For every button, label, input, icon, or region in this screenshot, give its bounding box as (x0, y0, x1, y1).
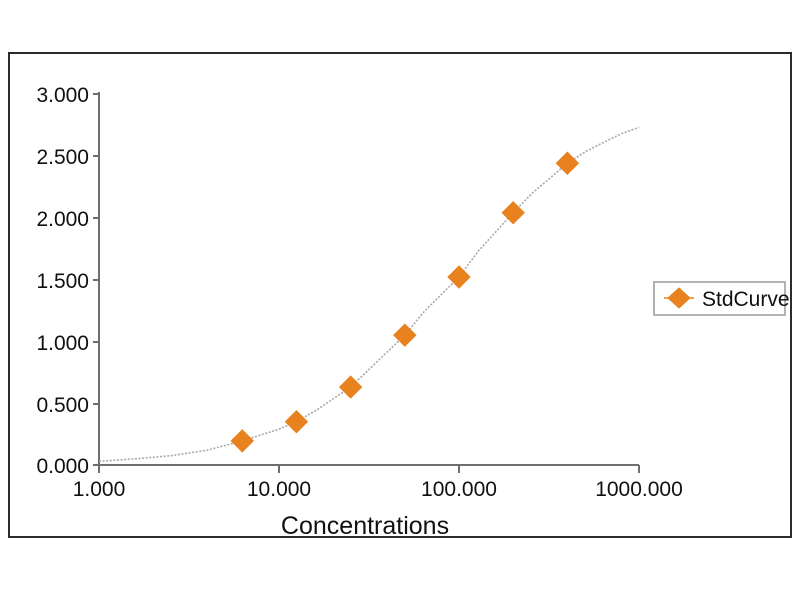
legend-entry-label: StdCurve (702, 288, 790, 311)
y-tick-label-1000: 1.000 (36, 332, 89, 355)
x-tick-label-1000: 1000.000 (595, 478, 683, 501)
data-point-marker (394, 324, 416, 346)
y-tick-label-3000: 3.000 (36, 84, 89, 107)
std-curve-data-points (231, 152, 578, 452)
data-point-marker (285, 411, 307, 433)
x-axis: 1.000 10.000 100.000 1000.000 Concentrat… (73, 465, 683, 536)
x-axis-title: Concentrations (281, 512, 449, 536)
y-tick-label-0000: 0.000 (36, 455, 89, 478)
chart-frame: 3.000 2.500 2.000 1.500 1.000 0.500 0.00… (8, 52, 792, 538)
y-tick-label-0500: 0.500 (36, 394, 89, 417)
legend: StdCurve (654, 282, 790, 315)
chart-canvas: 3.000 2.500 2.000 1.500 1.000 0.500 0.00… (0, 0, 800, 600)
y-axis: 3.000 2.500 2.000 1.500 1.000 0.500 0.00… (36, 84, 99, 478)
data-point-marker (231, 430, 253, 452)
x-tick-label-100: 100.000 (421, 478, 497, 501)
standard-curve-plot: 3.000 2.500 2.000 1.500 1.000 0.500 0.00… (10, 54, 790, 536)
std-curve-fit-line (99, 127, 639, 461)
y-tick-label-1500: 1.500 (36, 270, 89, 293)
y-tick-label-2500: 2.500 (36, 146, 89, 169)
data-point-marker (556, 152, 578, 174)
x-tick-label-1: 1.000 (73, 478, 126, 501)
x-tick-label-10: 10.000 (247, 478, 311, 501)
y-tick-label-2000: 2.000 (36, 208, 89, 231)
